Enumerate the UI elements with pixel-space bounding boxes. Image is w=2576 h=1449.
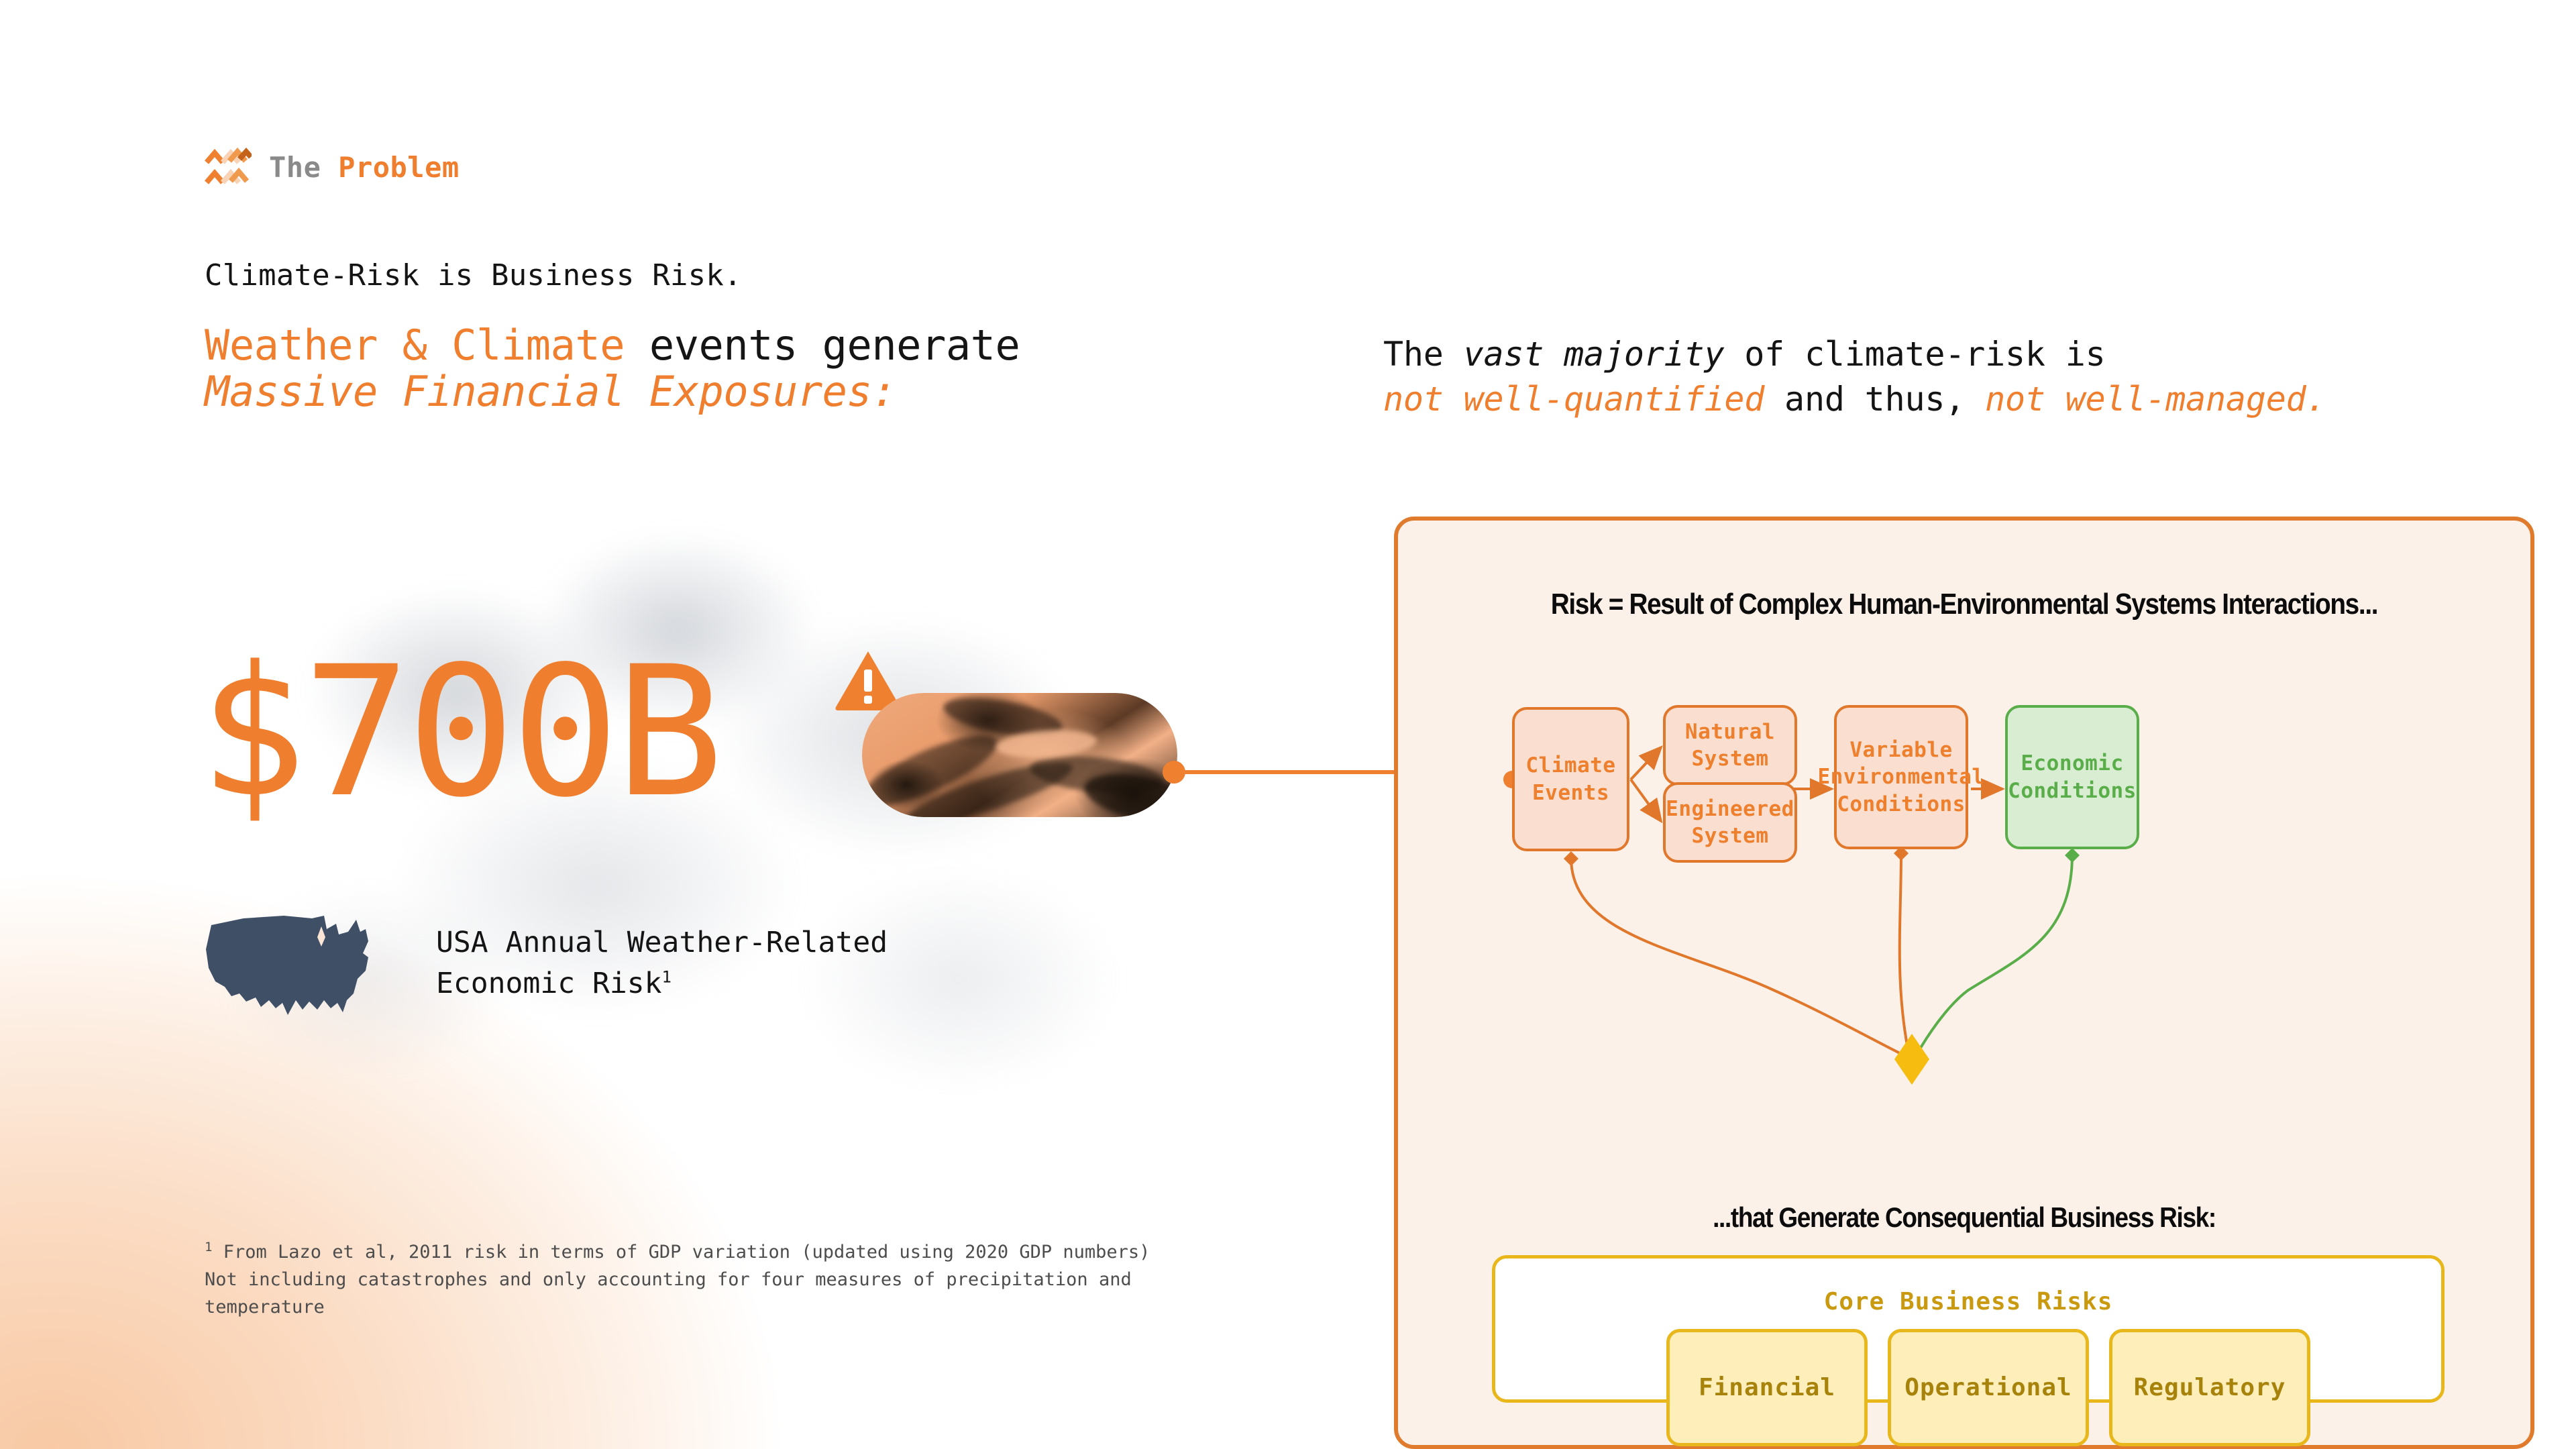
lede-plain-a: The [1383,335,1464,374]
node-climate-events[interactable]: Climate Events [1512,707,1629,851]
node-vec-line2: Environmental [1817,763,1984,790]
footnote-text: From Lazo et al, 2011 risk in terms of G… [205,1242,1150,1318]
zigzag-chevron-logo-icon [205,146,252,188]
big-number-caption: USA Annual Weather-Related Economic Risk… [436,922,888,1004]
lede-orange-a: not well-quantified [1383,380,1764,419]
lede-line-1: The vast majority of climate-risk is [1383,332,2326,377]
core-business-risks-title: Core Business Risks [1495,1288,2441,1316]
kicker-text: Climate-Risk is Business Risk. [205,258,742,292]
risk-diagram-panel: Risk = Result of Complex Human-Environme… [1394,517,2534,1449]
node-engineered-line2: System [1666,822,1794,849]
eyebrow-the-label: The [269,151,321,184]
node-engineered-line1: Engineered [1666,796,1794,822]
lede-emphasis: vast majority [1464,335,1725,374]
node-natural-system[interactable]: Natural System [1663,705,1797,786]
node-natural-line2: System [1685,745,1775,772]
caption-line-1: USA Annual Weather-Related [436,922,888,963]
lede-line-2: not well-quantified and thus, not well-m… [1383,377,2326,422]
headline-line-1: Weather & Climate events generate [205,322,1020,368]
diagram-subtitle: ...that Generate Consequential Business … [1466,1201,2462,1234]
headline-line-2: Massive Financial Exposures: [205,368,1020,415]
big-number-value: $700B [199,643,720,822]
node-econ-line1: Economic [2008,750,2137,777]
node-vec-line1: Variable [1817,737,1984,763]
caption-footnote-marker: 1 [662,968,672,987]
yellow-diamond-junction-icon [1894,1034,1929,1085]
footnote-marker: 1 [205,1240,212,1254]
headline-plain-part: events generate [625,321,1020,370]
diagram-title: Risk = Result of Complex Human-Environme… [1466,588,2462,621]
lede-paragraph: The vast majority of climate-risk is not… [1383,332,2326,421]
footnote: 1 From Lazo et al, 2011 risk in terms of… [205,1238,1177,1321]
node-economic-conditions[interactable]: Economic Conditions [2005,705,2139,849]
caption-line-2-wrap: Economic Risk1 [436,963,888,1004]
lede-plain-b: of climate-risk is [1724,335,2105,374]
usa-map-silhouette-icon [205,914,386,1027]
eyebrow-problem-label: Problem [338,151,460,184]
ocean-wave-photo [862,693,1177,817]
headline: Weather & Climate events generate Massiv… [205,322,1020,415]
node-econ-line2: Conditions [2008,777,2137,804]
risk-chip-regulatory[interactable]: Regulatory [2109,1329,2310,1446]
risk-chip-financial[interactable]: Financial [1666,1329,1868,1446]
caption-line-2: Economic Risk [436,967,662,1000]
node-variable-environmental-conditions[interactable]: Variable Environmental Conditions [1834,705,1968,849]
section-eyebrow: The Problem [205,146,460,188]
node-engineered-system[interactable]: Engineered System [1663,782,1797,863]
lede-orange-b: not well-managed. [1985,380,2326,419]
node-climate-line1: Climate [1525,752,1615,779]
headline-orange-part: Weather & Climate [205,321,625,370]
node-vec-line3: Conditions [1817,791,1984,818]
node-climate-line2: Events [1525,780,1615,806]
lede-plain-c: and thus, [1764,380,1985,419]
risk-chip-operational[interactable]: Operational [1888,1329,2089,1446]
node-natural-line1: Natural [1685,718,1775,745]
